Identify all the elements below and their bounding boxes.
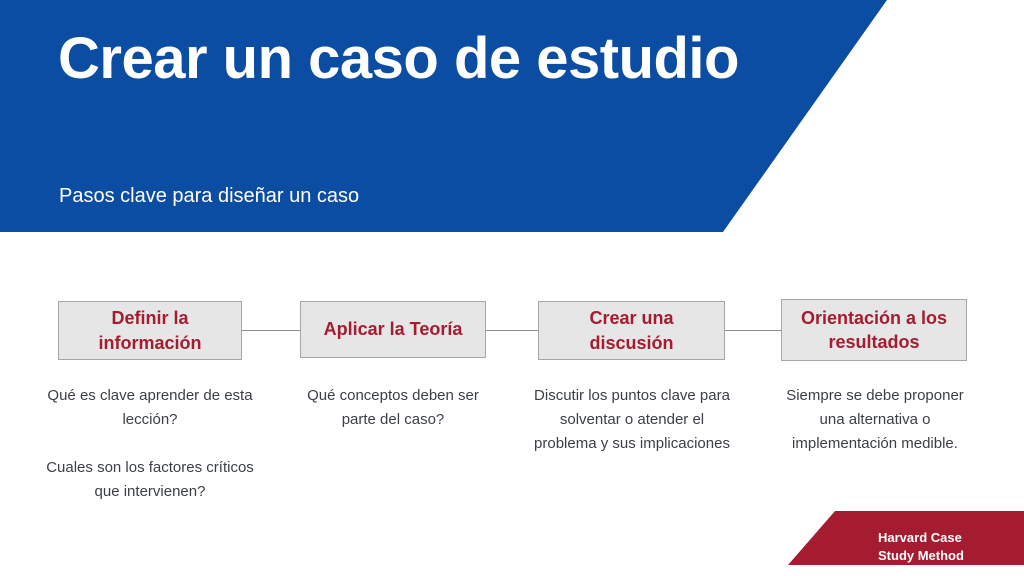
flow-step-1-caption: Qué es clave aprender de esta lección? C…: [45, 384, 255, 504]
flow-step-4-caption: Siempre se debe proponer una alternativa…: [782, 384, 968, 456]
flow-step-4-box[interactable]: Orientación a los resultados: [781, 299, 967, 361]
flow-step-2-title: Aplicar la Teoría: [318, 317, 469, 341]
slide-canvas: Crear un caso de estudio Pasos clave par…: [0, 0, 1024, 576]
flow-step-3-title: Crear una discusión: [539, 306, 724, 355]
flow-step-3-caption: Discutir los puntos clave para solventar…: [532, 384, 732, 456]
process-flow-diagram: Definir la información Qué es clave apre…: [0, 0, 1024, 576]
connector-line-3-4: [724, 330, 782, 331]
connector-line-2-3: [485, 330, 539, 331]
connector-line-1-2: [241, 330, 301, 331]
flow-step-1-box[interactable]: Definir la información: [58, 301, 242, 360]
flow-step-1-title: Definir la información: [59, 306, 241, 355]
flow-step-2-box[interactable]: Aplicar la Teoría: [300, 301, 486, 358]
footer-badge-label: Harvard Case Study Method: [878, 529, 1018, 566]
flow-step-3-box[interactable]: Crear una discusión: [538, 301, 725, 360]
flow-step-2-caption: Qué conceptos deben ser parte del caso?: [292, 384, 494, 432]
flow-step-4-title: Orientación a los resultados: [782, 306, 966, 355]
